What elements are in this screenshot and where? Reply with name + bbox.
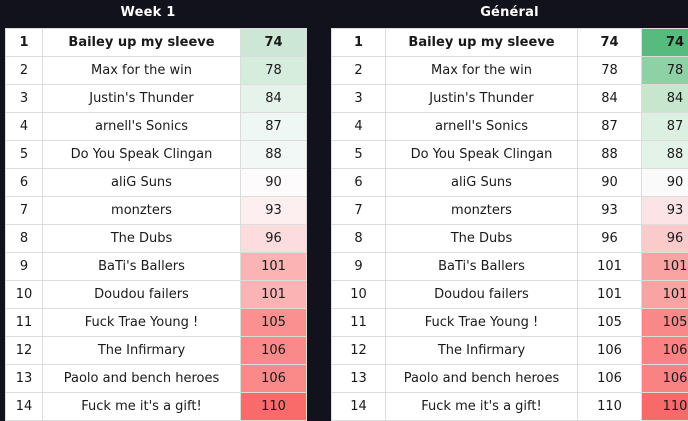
cell-score: 106: [241, 337, 307, 365]
table-row[interactable]: 10Doudou failers101101: [332, 281, 688, 309]
cell-team-name: The Infirmary: [386, 337, 578, 365]
table-week1-body: 1Bailey up my sleeve742Max for the win78…: [6, 29, 307, 421]
cell-total: 84: [642, 85, 688, 113]
cell-score: 93: [578, 197, 642, 225]
table-row[interactable]: 6aliG Suns90: [6, 169, 307, 197]
cell-total: 101: [642, 253, 688, 281]
cell-total: 96: [642, 225, 688, 253]
table-row[interactable]: 7monzters93: [6, 197, 307, 225]
cell-team-name: Do You Speak Clingan: [386, 141, 578, 169]
cell-score: 74: [241, 29, 307, 57]
cell-score: 105: [241, 309, 307, 337]
cell-score: 96: [578, 225, 642, 253]
cell-team-name: Bailey up my sleeve: [386, 29, 578, 57]
cell-rank: 13: [332, 365, 386, 393]
table-row[interactable]: 1Bailey up my sleeve7474: [332, 29, 688, 57]
cell-score: 101: [578, 281, 642, 309]
table-general: 1Bailey up my sleeve74742Max for the win…: [331, 28, 688, 421]
cell-team-name: Fuck Trae Young !: [386, 309, 578, 337]
cell-rank: 2: [6, 57, 43, 85]
cell-team-name: arnell's Sonics: [43, 113, 241, 141]
cell-rank: 12: [332, 337, 386, 365]
cell-rank: 10: [332, 281, 386, 309]
cell-score: 87: [241, 113, 307, 141]
table-row[interactable]: 4arnell's Sonics87: [6, 113, 307, 141]
cell-team-name: BaTi's Ballers: [386, 253, 578, 281]
table-general-body: 1Bailey up my sleeve74742Max for the win…: [332, 29, 688, 421]
table-row[interactable]: 10Doudou failers101: [6, 281, 307, 309]
cell-rank: 11: [6, 309, 43, 337]
cell-rank: 1: [6, 29, 43, 57]
cell-score: 84: [578, 85, 642, 113]
table-row[interactable]: 11Fuck Trae Young !105: [6, 309, 307, 337]
cell-team-name: Fuck Trae Young !: [43, 309, 241, 337]
cell-rank: 3: [6, 85, 43, 113]
cell-total: 87: [642, 113, 688, 141]
cell-rank: 9: [6, 253, 43, 281]
panel-title-week1: Week 1: [5, 0, 291, 28]
table-week1: 1Bailey up my sleeve742Max for the win78…: [5, 28, 307, 421]
cell-rank: 12: [6, 337, 43, 365]
cell-team-name: Paolo and bench heroes: [386, 365, 578, 393]
cell-team-name: arnell's Sonics: [386, 113, 578, 141]
cell-score: 78: [241, 57, 307, 85]
cell-total: 90: [642, 169, 688, 197]
cell-team-name: Bailey up my sleeve: [43, 29, 241, 57]
cell-total: 74: [642, 29, 688, 57]
cell-rank: 7: [332, 197, 386, 225]
cell-total: 106: [642, 337, 688, 365]
cell-rank: 8: [6, 225, 43, 253]
panel-title-general: Général: [331, 0, 688, 28]
cell-total: 101: [642, 281, 688, 309]
table-row[interactable]: 9BaTi's Ballers101: [6, 253, 307, 281]
table-row[interactable]: 11Fuck Trae Young !105105: [332, 309, 688, 337]
cell-score: 110: [241, 393, 307, 421]
cell-score: 106: [578, 337, 642, 365]
cell-team-name: Max for the win: [386, 57, 578, 85]
cell-score: 106: [241, 365, 307, 393]
cell-score: 101: [241, 281, 307, 309]
table-row[interactable]: 3Justin's Thunder84: [6, 85, 307, 113]
table-row[interactable]: 8The Dubs9696: [332, 225, 688, 253]
table-row[interactable]: 13Paolo and bench heroes106106: [332, 365, 688, 393]
table-row[interactable]: 6aliG Suns9090: [332, 169, 688, 197]
cell-rank: 3: [332, 85, 386, 113]
table-row[interactable]: 9BaTi's Ballers101101: [332, 253, 688, 281]
cell-score: 96: [241, 225, 307, 253]
cell-team-name: The Infirmary: [43, 337, 241, 365]
cell-rank: 5: [6, 141, 43, 169]
cell-rank: 4: [332, 113, 386, 141]
cell-total: 106: [642, 365, 688, 393]
cell-total: 88: [642, 141, 688, 169]
cell-score: 105: [578, 309, 642, 337]
table-row[interactable]: 7monzters9393: [332, 197, 688, 225]
leaderboard-board: Week 1 1Bailey up my sleeve742Max for th…: [0, 0, 688, 413]
cell-team-name: Doudou failers: [386, 281, 578, 309]
cell-rank: 1: [332, 29, 386, 57]
cell-rank: 8: [332, 225, 386, 253]
cell-rank: 4: [6, 113, 43, 141]
cell-rank: 7: [6, 197, 43, 225]
cell-team-name: The Dubs: [43, 225, 241, 253]
cell-team-name: Max for the win: [43, 57, 241, 85]
cell-team-name: BaTi's Ballers: [43, 253, 241, 281]
cell-score: 106: [578, 365, 642, 393]
cell-total: 105: [642, 309, 688, 337]
panel-week1: Week 1 1Bailey up my sleeve742Max for th…: [5, 0, 291, 421]
cell-score: 101: [241, 253, 307, 281]
cell-score: 93: [241, 197, 307, 225]
table-row[interactable]: 14Fuck me it's a gift!110: [6, 393, 307, 421]
cell-team-name: Fuck me it's a gift!: [43, 393, 241, 421]
table-row[interactable]: 5Do You Speak Clingan8888: [332, 141, 688, 169]
cell-team-name: Fuck me it's a gift!: [386, 393, 578, 421]
cell-rank: 6: [6, 169, 43, 197]
cell-score: 101: [578, 253, 642, 281]
table-row[interactable]: 2Max for the win78: [6, 57, 307, 85]
cell-score: 88: [241, 141, 307, 169]
cell-rank: 9: [332, 253, 386, 281]
cell-rank: 14: [332, 393, 386, 421]
table-row[interactable]: 3Justin's Thunder8484: [332, 85, 688, 113]
cell-team-name: Justin's Thunder: [386, 85, 578, 113]
panel-general: Général 1Bailey up my sleeve74742Max for…: [331, 0, 688, 421]
table-row[interactable]: 14Fuck me it's a gift!110110: [332, 393, 688, 421]
table-row[interactable]: 12The Infirmary106: [6, 337, 307, 365]
cell-rank: 14: [6, 393, 43, 421]
table-row[interactable]: 5Do You Speak Clingan88: [6, 141, 307, 169]
cell-total: 110: [642, 393, 688, 421]
cell-rank: 5: [332, 141, 386, 169]
cell-team-name: monzters: [43, 197, 241, 225]
cell-total: 93: [642, 197, 688, 225]
table-row[interactable]: 2Max for the win7878: [332, 57, 688, 85]
cell-total: 78: [642, 57, 688, 85]
cell-rank: 10: [6, 281, 43, 309]
table-row[interactable]: 12The Infirmary106106: [332, 337, 688, 365]
cell-score: 88: [578, 141, 642, 169]
cell-team-name: monzters: [386, 197, 578, 225]
cell-team-name: Justin's Thunder: [43, 85, 241, 113]
cell-rank: 2: [332, 57, 386, 85]
cell-team-name: Do You Speak Clingan: [43, 141, 241, 169]
table-row[interactable]: 8The Dubs96: [6, 225, 307, 253]
cell-score: 84: [241, 85, 307, 113]
cell-score: 78: [578, 57, 642, 85]
cell-team-name: aliG Suns: [43, 169, 241, 197]
cell-team-name: The Dubs: [386, 225, 578, 253]
cell-rank: 13: [6, 365, 43, 393]
cell-score: 110: [578, 393, 642, 421]
table-row[interactable]: 4arnell's Sonics8787: [332, 113, 688, 141]
cell-score: 90: [578, 169, 642, 197]
cell-team-name: aliG Suns: [386, 169, 578, 197]
cell-score: 90: [241, 169, 307, 197]
cell-team-name: Doudou failers: [43, 281, 241, 309]
cell-rank: 11: [332, 309, 386, 337]
cell-rank: 6: [332, 169, 386, 197]
cell-team-name: Paolo and bench heroes: [43, 365, 241, 393]
cell-score: 74: [578, 29, 642, 57]
cell-score: 87: [578, 113, 642, 141]
table-row[interactable]: 13Paolo and bench heroes106: [6, 365, 307, 393]
table-row[interactable]: 1Bailey up my sleeve74: [6, 29, 307, 57]
